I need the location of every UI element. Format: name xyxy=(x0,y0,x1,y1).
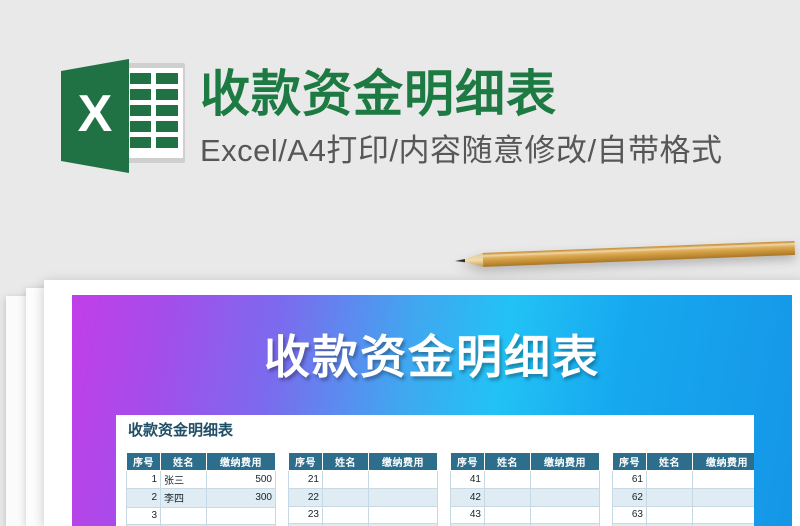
excel-logo-icon: X xyxy=(57,57,189,175)
document-sheet: 收款资金明细表 收款资金明细表 序号 姓名 缴纳费用 xyxy=(44,280,800,526)
cell-no[interactable]: 1 xyxy=(127,471,161,489)
table-row[interactable]: 42 xyxy=(451,488,600,506)
cell-name[interactable] xyxy=(647,506,693,524)
fee-table[interactable]: 序号 姓名 缴纳费用 21 22 xyxy=(288,452,438,526)
table-row[interactable]: 2 李四 300 xyxy=(127,489,276,507)
cell-fee[interactable] xyxy=(531,471,600,489)
cell-name[interactable]: 李四 xyxy=(161,489,207,507)
fee-table[interactable]: 序号 姓名 缴纳费用 61 62 xyxy=(612,452,754,526)
cell-fee[interactable] xyxy=(531,506,600,524)
document-banner: 收款资金明细表 收款资金明细表 序号 姓名 缴纳费用 xyxy=(72,295,792,526)
worksheet-tables: 序号 姓名 缴纳费用 1 张三 500 xyxy=(126,452,746,526)
cell-fee[interactable] xyxy=(207,507,276,524)
document-banner-title: 收款资金明细表 xyxy=(72,331,792,383)
cell-name[interactable] xyxy=(323,471,369,489)
column-header-no[interactable]: 序号 xyxy=(127,453,161,471)
column-header-fee[interactable]: 缴纳费用 xyxy=(531,453,600,471)
cell-no[interactable]: 63 xyxy=(613,506,647,524)
cell-fee[interactable] xyxy=(369,471,438,489)
table-header-row: 序号 姓名 缴纳费用 xyxy=(613,453,755,471)
cell-no[interactable]: 42 xyxy=(451,488,485,506)
cell-name[interactable] xyxy=(485,488,531,506)
column-header-fee[interactable]: 缴纳费用 xyxy=(369,453,438,471)
table-header-row: 序号 姓名 缴纳费用 xyxy=(451,453,600,471)
svg-text:X: X xyxy=(78,85,113,143)
table-header-row: 序号 姓名 缴纳费用 xyxy=(127,453,276,471)
table-row[interactable]: 21 xyxy=(289,471,438,489)
column-header-no[interactable]: 序号 xyxy=(451,453,485,471)
worksheet-panel: 收款资金明细表 序号 姓名 缴纳费用 xyxy=(116,415,754,526)
cell-name[interactable] xyxy=(647,488,693,506)
column-header-name[interactable]: 姓名 xyxy=(647,453,693,471)
cell-fee[interactable] xyxy=(693,488,755,506)
cell-no[interactable]: 3 xyxy=(127,507,161,524)
column-header-name[interactable]: 姓名 xyxy=(323,453,369,471)
column-header-no[interactable]: 序号 xyxy=(613,453,647,471)
table-row[interactable]: 62 xyxy=(613,488,755,506)
cell-fee[interactable] xyxy=(531,488,600,506)
column-header-name[interactable]: 姓名 xyxy=(485,453,531,471)
cell-name[interactable] xyxy=(323,506,369,524)
cell-name[interactable] xyxy=(323,488,369,506)
cell-no[interactable]: 62 xyxy=(613,488,647,506)
column-header-no[interactable]: 序号 xyxy=(289,453,323,471)
cell-name[interactable] xyxy=(161,507,207,524)
table-row[interactable]: 3 xyxy=(127,507,276,524)
cell-no[interactable]: 22 xyxy=(289,488,323,506)
cell-name[interactable] xyxy=(485,506,531,524)
cell-fee[interactable] xyxy=(369,506,438,524)
cell-fee[interactable] xyxy=(369,488,438,506)
cell-no[interactable]: 41 xyxy=(451,471,485,489)
hero-title: 收款资金明细表 xyxy=(200,66,557,122)
table-row[interactable]: 41 xyxy=(451,471,600,489)
hero-subtitle: Excel/A4打印/内容随意修改/自带格式 xyxy=(200,132,723,170)
cell-no[interactable]: 43 xyxy=(451,506,485,524)
cell-fee[interactable]: 300 xyxy=(207,489,276,507)
cell-name[interactable] xyxy=(647,471,693,489)
table-row[interactable]: 61 xyxy=(613,471,755,489)
cell-no[interactable]: 61 xyxy=(613,471,647,489)
table-row[interactable]: 22 xyxy=(289,488,438,506)
column-header-fee[interactable]: 缴纳费用 xyxy=(207,453,276,471)
table-row[interactable]: 23 xyxy=(289,506,438,524)
column-header-fee[interactable]: 缴纳费用 xyxy=(693,453,755,471)
table-row[interactable]: 63 xyxy=(613,506,755,524)
cell-fee[interactable] xyxy=(693,506,755,524)
worksheet-title: 收款资金明细表 xyxy=(128,421,233,441)
hero-section: X 收款资金明细表 Excel/A4打印/内容随意修改/自带格式 xyxy=(0,0,800,280)
cell-name[interactable] xyxy=(485,471,531,489)
table-header-row: 序号 姓名 缴纳费用 xyxy=(289,453,438,471)
cell-fee[interactable]: 500 xyxy=(207,471,276,489)
table-row[interactable]: 43 xyxy=(451,506,600,524)
cell-name[interactable]: 张三 xyxy=(161,471,207,489)
cell-no[interactable]: 2 xyxy=(127,489,161,507)
column-header-name[interactable]: 姓名 xyxy=(161,453,207,471)
cell-fee[interactable] xyxy=(693,471,755,489)
cell-no[interactable]: 23 xyxy=(289,506,323,524)
fee-table[interactable]: 序号 姓名 缴纳费用 1 张三 500 xyxy=(126,452,276,526)
page-root: X 收款资金明细表 Excel/A4打印/内容随意修改/自带格式 xyxy=(0,0,800,526)
table-row[interactable]: 1 张三 500 xyxy=(127,471,276,489)
fee-table[interactable]: 序号 姓名 缴纳费用 41 42 xyxy=(450,452,600,526)
cell-no[interactable]: 21 xyxy=(289,471,323,489)
